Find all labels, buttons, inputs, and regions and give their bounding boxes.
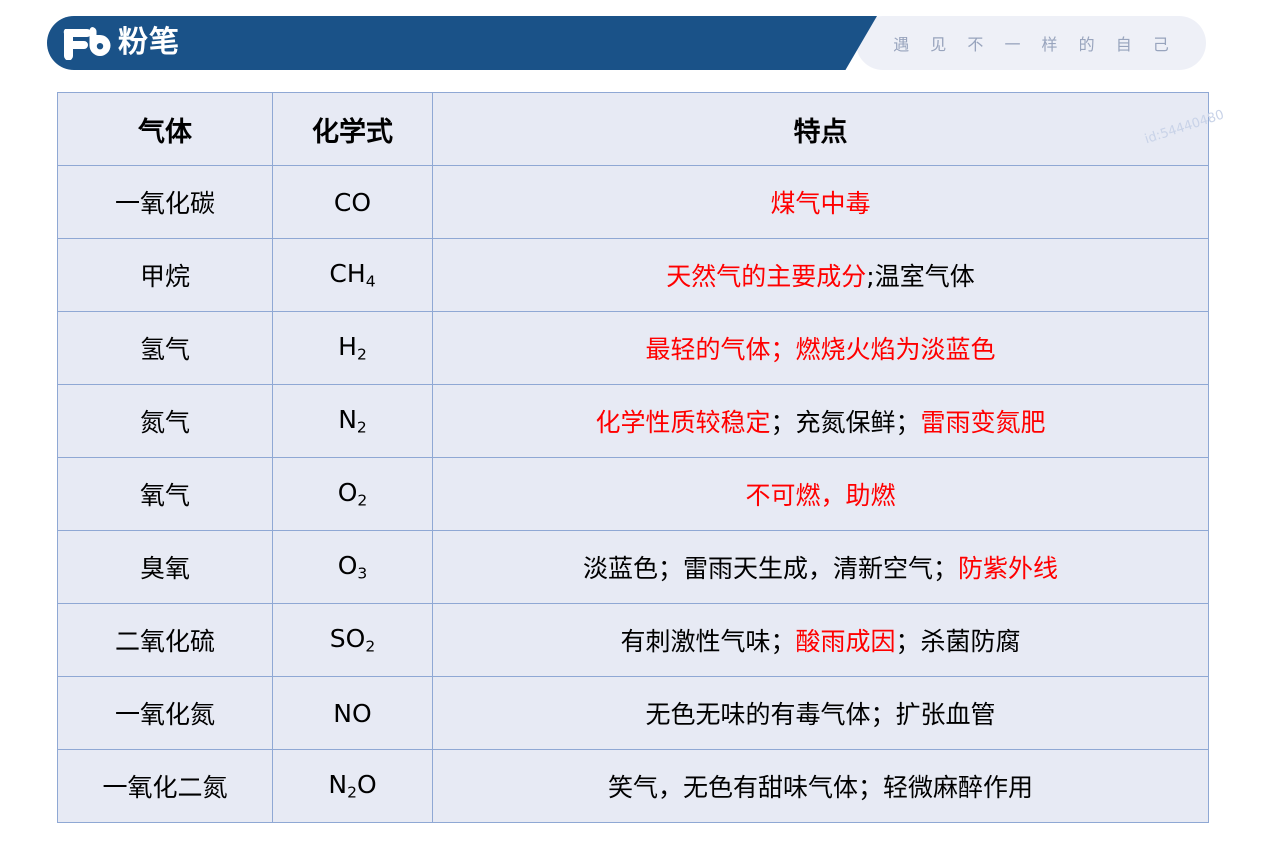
table-row: 臭氧O3淡蓝色；雷雨天生成，清新空气；防紫外线	[58, 531, 1209, 604]
cell-feature: 化学性质较稳定；充氮保鲜；雷雨变氮肥	[433, 385, 1209, 458]
gas-properties-table-wrap: 气体 化学式 特点 一氧化碳CO煤气中毒甲烷CH4天然气的主要成分;温室气体氢气…	[57, 92, 1208, 823]
brand-logo: 粉笔	[60, 18, 180, 68]
cell-gas: 氮气	[58, 385, 273, 458]
cell-formula: O3	[273, 531, 433, 604]
cell-gas: 氧气	[58, 458, 273, 531]
cell-feature: 天然气的主要成分;温室气体	[433, 239, 1209, 312]
top-banner: 粉笔 遇 见 不 一 样 的 自 己	[0, 0, 1285, 86]
cell-formula: CO	[273, 166, 433, 239]
banner-tagline: 遇 见 不 一 样 的 自 己	[856, 16, 1206, 70]
cell-feature: 淡蓝色；雷雨天生成，清新空气；防紫外线	[433, 531, 1209, 604]
feature-text: 无色无味的有毒气体；扩张血管	[645, 700, 995, 729]
table-row: 一氧化二氮N2O笑气，无色有甜味气体；轻微麻醉作用	[58, 750, 1209, 823]
feature-text: 淡蓝色；雷雨天生成，清新空气；	[583, 554, 958, 583]
cell-gas: 二氧化硫	[58, 604, 273, 677]
cell-gas: 一氧化氮	[58, 677, 273, 750]
feature-text: 有刺激性气味；	[620, 627, 795, 656]
feature-text: 笑气，无色有甜味气体；轻微麻醉作用	[608, 773, 1033, 802]
cell-gas: 氢气	[58, 312, 273, 385]
brand-logo-text: 粉笔	[118, 28, 180, 58]
cell-formula: O2	[273, 458, 433, 531]
cell-formula: NO	[273, 677, 433, 750]
cell-feature: 有刺激性气味；酸雨成因；杀菌防腐	[433, 604, 1209, 677]
feature-text-highlight: 雷雨变氮肥	[921, 408, 1046, 437]
feature-text: ；杀菌防腐	[896, 627, 1021, 656]
feature-text-highlight: 不可燃，助燃	[745, 481, 895, 510]
column-header-gas: 气体	[58, 93, 273, 166]
cell-feature: 不可燃，助燃	[433, 458, 1209, 531]
cell-feature: 煤气中毒	[433, 166, 1209, 239]
feature-text-highlight: 化学性质较稳定	[595, 408, 770, 437]
feature-text-highlight: 酸雨成因	[795, 627, 895, 656]
feature-text-highlight: 最轻的气体；燃烧火焰为淡蓝色	[645, 335, 995, 364]
feature-text-highlight: 煤气中毒	[770, 189, 870, 218]
feature-text-highlight: 天然气的主要成分	[666, 262, 866, 291]
table-row: 一氧化碳CO煤气中毒	[58, 166, 1209, 239]
cell-gas: 一氧化二氮	[58, 750, 273, 823]
cell-formula: N2	[273, 385, 433, 458]
table-row: 氮气N2化学性质较稳定；充氮保鲜；雷雨变氮肥	[58, 385, 1209, 458]
cell-formula: N2O	[273, 750, 433, 823]
table-row: 一氧化氮NO无色无味的有毒气体；扩张血管	[58, 677, 1209, 750]
cell-formula: H2	[273, 312, 433, 385]
column-header-formula: 化学式	[273, 93, 433, 166]
feature-text: ；充氮保鲜；	[770, 408, 920, 437]
table-row: 二氧化硫SO2有刺激性气味；酸雨成因；杀菌防腐	[58, 604, 1209, 677]
cell-gas: 一氧化碳	[58, 166, 273, 239]
table-body: 一氧化碳CO煤气中毒甲烷CH4天然气的主要成分;温室气体氢气H2最轻的气体；燃烧…	[58, 166, 1209, 823]
cell-feature: 最轻的气体；燃烧火焰为淡蓝色	[433, 312, 1209, 385]
cell-formula: SO2	[273, 604, 433, 677]
table-header-row: 气体 化学式 特点	[58, 93, 1209, 166]
cell-gas: 甲烷	[58, 239, 273, 312]
table-row: 氢气H2最轻的气体；燃烧火焰为淡蓝色	[58, 312, 1209, 385]
feature-text-highlight: 防紫外线	[958, 554, 1058, 583]
table-row: 甲烷CH4天然气的主要成分;温室气体	[58, 239, 1209, 312]
cell-feature: 无色无味的有毒气体；扩张血管	[433, 677, 1209, 750]
cell-formula: CH4	[273, 239, 433, 312]
table-row: 氧气O2不可燃，助燃	[58, 458, 1209, 531]
cell-gas: 臭氧	[58, 531, 273, 604]
gas-properties-table: 气体 化学式 特点 一氧化碳CO煤气中毒甲烷CH4天然气的主要成分;温室气体氢气…	[57, 92, 1209, 823]
fb-logo-icon	[60, 26, 112, 60]
cell-feature: 笑气，无色有甜味气体；轻微麻醉作用	[433, 750, 1209, 823]
feature-text: ;温室气体	[866, 262, 974, 291]
column-header-feature: 特点	[433, 93, 1209, 166]
